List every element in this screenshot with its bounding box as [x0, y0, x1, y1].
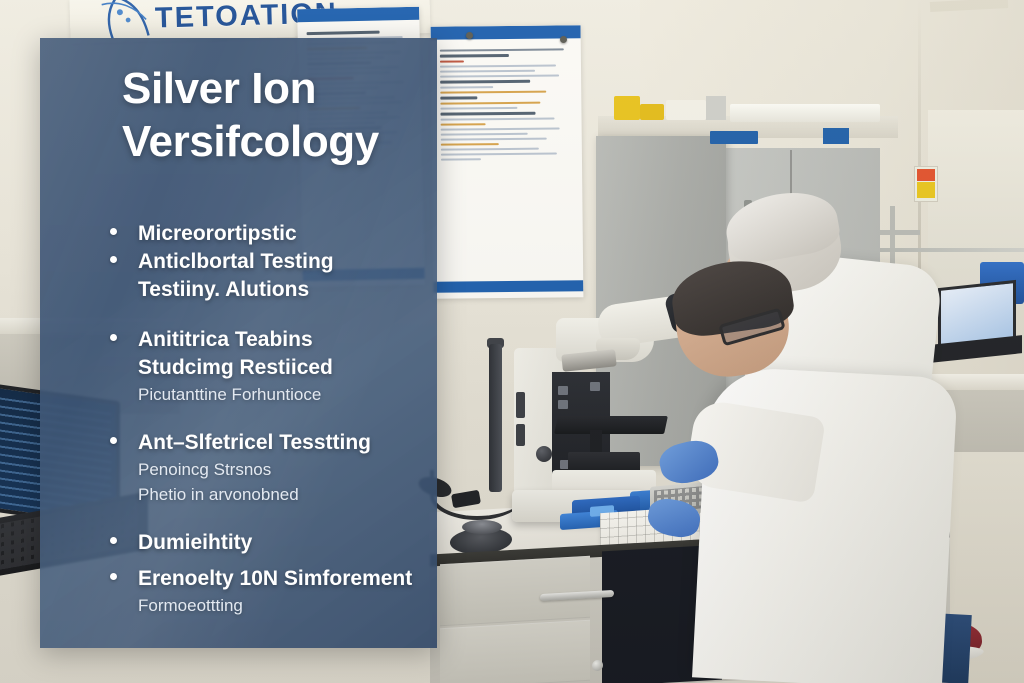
wall-seam [918, 0, 921, 300]
bullet-subtext: Picutanttine Forhuntioce [104, 382, 434, 407]
bullet-dot-icon [110, 334, 117, 341]
overlay-title-line-1: Silver Ion [122, 62, 442, 115]
bullet-heading: Dumieihtity [138, 529, 434, 557]
bullet-dot-icon [110, 437, 117, 444]
bullet-item: Ant–Slfetricel Tesstting [104, 429, 434, 457]
wall-pipe [890, 206, 895, 268]
cabinet-label [823, 128, 849, 144]
bullet-subtext-line-2: Phetio in arvonobned [104, 482, 434, 507]
overlay-title-line-2: Versifcology [122, 115, 442, 168]
bullet-heading-line-2: Testiiny. Alutions [138, 276, 434, 304]
bullet-subtext: Penoincg Strsnos [104, 457, 434, 482]
bullet-item: Dumieihtity [104, 529, 434, 557]
bullet-dot-icon [110, 537, 117, 544]
bullet-heading: Ant–Slfetricel Tesstting [138, 429, 434, 457]
bullet-dot-icon [110, 256, 117, 263]
bullet-heading-line-2: Studcimg Restiiced [138, 354, 434, 382]
dna-helix-logo [95, 0, 158, 43]
petri-dish-lid [462, 520, 502, 534]
poster-footer-bar [433, 280, 583, 293]
ceiling-light-fixture [730, 104, 880, 122]
cabinet-label [710, 131, 758, 144]
microscope-side-button[interactable] [516, 424, 525, 446]
bullet-subtext: Formoeottting [104, 593, 434, 618]
text-overlay-panel: Silver Ion Versifcology Micreorortipstic… [40, 38, 437, 648]
yellow-container [614, 96, 640, 120]
poster-clip [466, 32, 473, 39]
microscope-post [489, 344, 502, 492]
white-box [666, 100, 706, 120]
wall-pipe [880, 230, 920, 235]
bullet-dot-icon [110, 228, 117, 235]
overlay-bullet-list: Micreorortipstic Anticlbortal Testing Te… [104, 220, 434, 618]
bench-drawer[interactable] [440, 556, 590, 626]
bullet-heading: Anticlbortal Testing [138, 248, 434, 276]
bullet-item: Erenoelty 10N Simforement [104, 565, 434, 593]
screenshot-root: TETOATION [0, 0, 1024, 683]
bullet-heading: Erenoelty 10N Simforement [138, 565, 434, 593]
grey-box [706, 96, 726, 120]
microscope-side-button[interactable] [516, 392, 525, 418]
bench-drawer[interactable] [440, 620, 590, 683]
bullet-heading: Anititrica Teabins [138, 326, 434, 354]
bullet-item: Micreorortipstic [104, 220, 434, 248]
bench-rail [880, 248, 1024, 252]
bullet-heading: Micreorortipstic [138, 220, 434, 248]
yellow-container [640, 104, 664, 120]
microscope-stage [554, 416, 668, 434]
microscope-stage-column [590, 430, 602, 452]
overlay-title: Silver Ion Versifcology [122, 62, 442, 168]
wall-poster-right [431, 25, 584, 299]
bullet-item: Anititrica Teabins Studcimg Restiiced [104, 326, 434, 382]
poster-clip [560, 36, 567, 43]
bullet-item: Anticlbortal Testing Testiiny. Alutions [104, 248, 434, 304]
emergency-stop-button[interactable] [914, 166, 938, 202]
bullet-dot-icon [110, 573, 117, 580]
poster-body [431, 38, 582, 171]
microscope-focus-knob[interactable] [536, 446, 552, 462]
